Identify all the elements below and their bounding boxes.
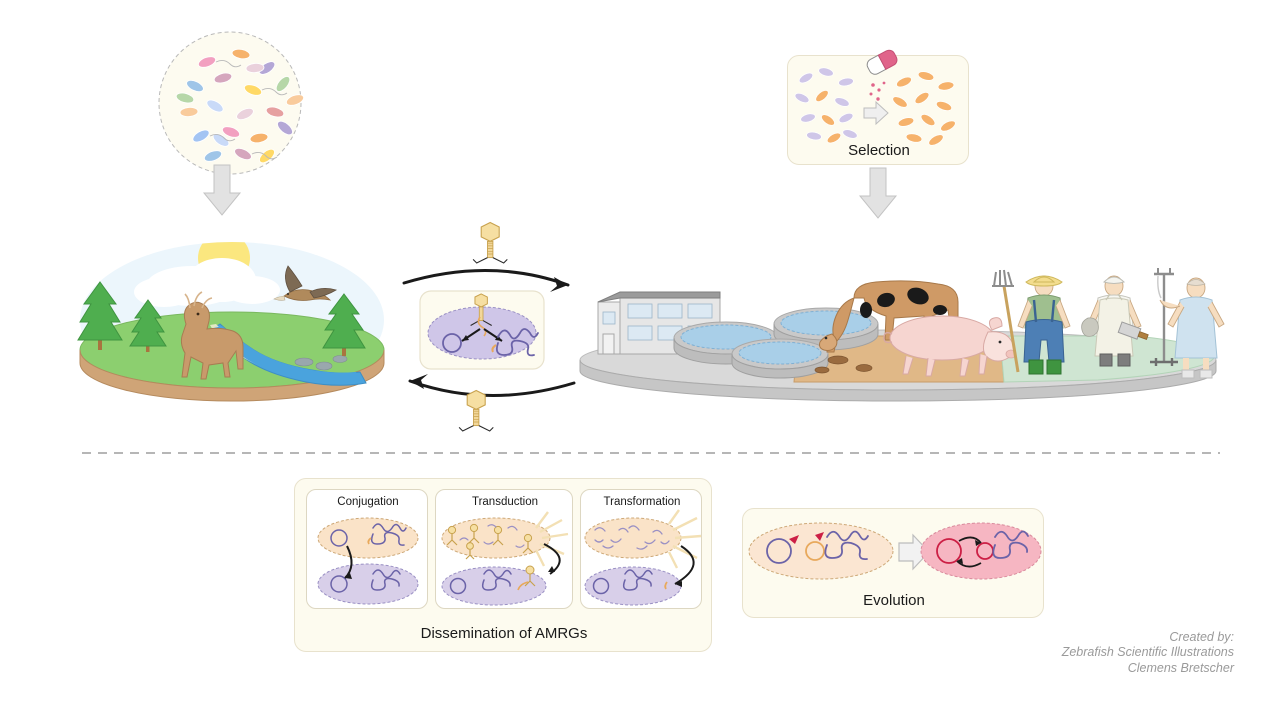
bacterium xyxy=(917,70,935,82)
bacterium xyxy=(834,96,851,108)
bacterium xyxy=(895,75,913,89)
selection-label: Selection xyxy=(788,142,970,159)
conjugation-label: Conjugation xyxy=(307,496,429,508)
bacterium xyxy=(818,66,834,77)
section-divider xyxy=(82,452,1220,454)
credits-line-2: Zebrafish Scientific Illustrations xyxy=(1062,645,1234,661)
transformation-subpanel: Transformation xyxy=(580,489,702,609)
down-arrow-selection-to-scene xyxy=(856,168,900,220)
bacterium xyxy=(897,116,915,128)
human-activity-scene xyxy=(576,260,1220,400)
down-arrow-microbiome-to-nature xyxy=(200,165,244,217)
microbiome-circle xyxy=(155,28,315,188)
transduction-subpanel: Transduction xyxy=(435,489,573,609)
evolution-panel: Evolution xyxy=(742,508,1044,618)
bacterium xyxy=(939,119,957,134)
bacterium xyxy=(838,111,855,124)
bacterium xyxy=(814,88,830,103)
bacterium xyxy=(935,100,953,113)
bacterium xyxy=(891,95,909,110)
bacterium xyxy=(937,81,954,92)
bacterium xyxy=(838,77,854,87)
bacterium xyxy=(842,128,859,140)
bacteria-exchange-cycle xyxy=(398,225,588,435)
conjugation-subpanel: Conjugation xyxy=(306,489,428,609)
bacterium xyxy=(794,91,811,104)
credits: Created by: Zebrafish Scientific Illustr… xyxy=(1062,630,1234,677)
bacterium xyxy=(919,112,937,128)
credits-line-1: Created by: xyxy=(1062,630,1234,646)
bacterium xyxy=(913,90,931,106)
butcher-cap-icon xyxy=(1104,277,1124,284)
credits-line-3: Clemens Bretscher xyxy=(1062,661,1234,677)
selection-panel: Selection xyxy=(787,55,969,165)
bacterium xyxy=(798,71,815,85)
figure-canvas: Selection xyxy=(0,0,1280,720)
bacterium xyxy=(800,112,816,123)
nature-environment-scene xyxy=(72,238,392,398)
transformation-label: Transformation xyxy=(581,496,703,508)
bacterium xyxy=(820,113,837,128)
dissemination-label: Dissemination of AMRGs xyxy=(295,625,713,642)
evolution-label: Evolution xyxy=(743,592,1045,609)
bacterium xyxy=(806,131,822,141)
transduction-label: Transduction xyxy=(436,496,574,508)
phage-icon xyxy=(473,223,507,264)
dissemination-panel: Conjugation Transduction xyxy=(294,478,712,652)
